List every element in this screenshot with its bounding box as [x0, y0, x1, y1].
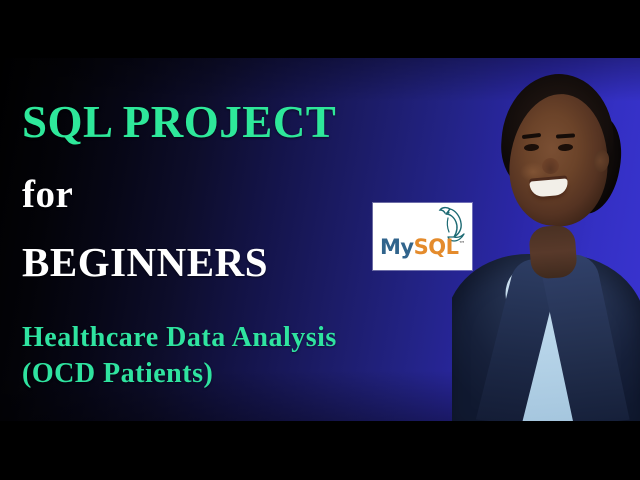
letterbox-top: [0, 0, 640, 58]
letterbox-bottom: [0, 421, 640, 480]
nose-shape: [542, 158, 559, 174]
slide-canvas: MySQL™ SQL PROJECT for BEGINNERS Healthc…: [0, 0, 640, 480]
subtitle-line-topic: Healthcare Data Analysis: [22, 324, 337, 352]
neck-shape: [528, 224, 578, 279]
slide-stage: MySQL™ SQL PROJECT for BEGINNERS Healthc…: [0, 58, 640, 421]
title-line-sql-project: SQL PROJECT: [22, 100, 336, 145]
mysql-wordmark-my: My: [380, 235, 414, 259]
mysql-logo-card: MySQL™: [373, 203, 472, 270]
subtitle-line-dataset: (OCD Patients): [22, 360, 213, 388]
presenter-photo: [452, 58, 640, 421]
title-line-for: for: [22, 175, 73, 214]
title-line-beginners: BEGINNERS: [22, 242, 268, 283]
mysql-wordmark-sql: SQL: [414, 235, 459, 259]
mysql-trademark: ™: [458, 240, 465, 248]
mysql-wordmark: MySQL™: [380, 237, 465, 258]
